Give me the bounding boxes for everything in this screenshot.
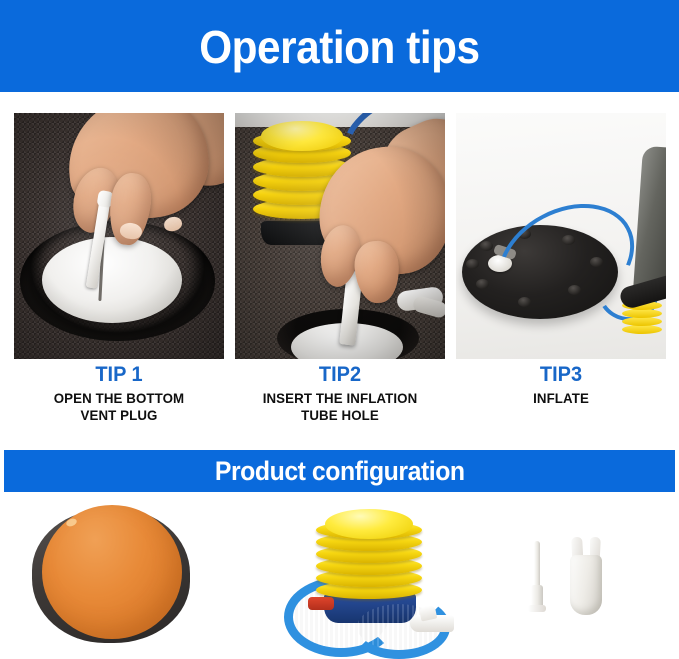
operation-tips-banner: Operation tips [0,0,679,92]
tip-1-line-1: OPEN THE BOTTOM [19,390,219,407]
tip-photos-row: Hand pulling the white vent plug out of … [0,113,679,359]
product-foot-pump: Yellow bellows foot pump with blue corru… [282,509,462,643]
tip-2-line-2: TUBE HOLE [240,407,440,424]
photo-vignette [14,113,224,359]
tip-3-line-1: INFLATE [461,390,661,407]
product-balance-cushion: Orange inflatable balance cushion with d… [32,505,190,645]
tip-2-line-1: INSERT THE INFLATION [240,390,440,407]
tip-captions-row: TIP 1 OPEN THE BOTTOM VENT PLUG TIP2 INS… [0,363,679,447]
product-plug-remover: White forked plug removal tool [570,537,602,615]
product-inflation-needle: White inflation needle adapter [531,541,543,611]
tip-caption-1: TIP 1 OPEN THE BOTTOM VENT PLUG [14,363,224,424]
tip-photo-2: Hand inserting the white pump nozzle of … [235,113,445,359]
tip-caption-3: TIP3 INFLATE [456,363,666,407]
photo-vignette [235,113,445,359]
pump-nozzle-icon [410,615,454,632]
needle-flange-icon [528,605,546,612]
tip-photo-1: Hand pulling the white vent plug out of … [14,113,224,359]
tip-photo-3: Blue hose connected to the underside val… [456,113,666,359]
plug-remover-body-icon [570,555,602,615]
product-configuration-title: Product configuration [215,458,465,485]
pump-bellows-icon [316,515,422,599]
infographic-page: Operation tips Hand pulling the white ve… [0,0,679,652]
product-configuration-banner: Product configuration [4,450,675,492]
tip-3-heading: TIP3 [461,363,661,387]
tip-1-line-2: VENT PLUG [19,407,219,424]
tip-1-heading: TIP 1 [19,363,219,387]
cushion-top-icon [42,505,182,639]
needle-shaft-icon [534,541,540,589]
page-title: Operation tips [199,24,479,70]
product-configuration-row: Orange inflatable balance cushion with d… [0,495,679,652]
tip-caption-2: TIP2 INSERT THE INFLATION TUBE HOLE [235,363,445,424]
tip-2-heading: TIP2 [240,363,440,387]
